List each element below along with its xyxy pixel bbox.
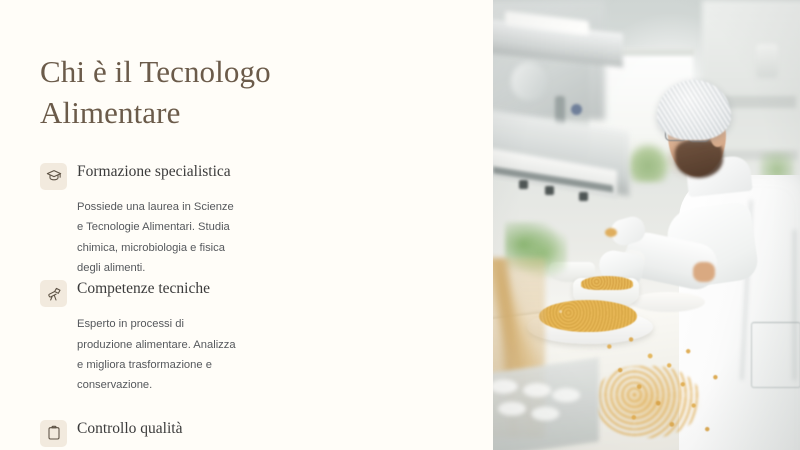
photo-panel [493,0,800,450]
lab-photo [493,0,800,450]
feature-head: Formazione specialistica [40,161,236,190]
feature-formazione-specialistica: Formazione specialistica Possiede una la… [40,161,236,279]
feature-title: Competenze tecniche [77,278,210,299]
feature-head: Competenze tecniche [40,278,236,307]
feature-body: Possiede una laurea in Scienze e Tecnolo… [40,197,236,279]
hairnet [657,80,731,140]
flat-plate [631,292,705,312]
grain-mound [539,300,637,332]
bowl-grains [581,276,633,290]
feature-title: Controllo qualità [77,418,182,439]
wrist-skin [693,262,715,282]
slide: Chi è il Tecnologo Alimentare Formazione… [0,0,800,450]
tray-items [493,374,589,436]
feature-competenze-tecniche: Competenze tecniche Esperto in processi … [40,278,236,396]
content-panel: Chi è il Tecnologo Alimentare Formazione… [0,0,493,450]
page-title: Chi è il Tecnologo Alimentare [40,52,370,134]
feature-title: Formazione specialistica [77,161,231,182]
feature-body: Esperto in processi di produzione alimen… [40,314,236,396]
feature-controllo-qualita: Controllo qualità Garantisce sicurezza e… [40,418,453,450]
graduation-cap-icon [40,163,67,190]
features-grid: Formazione specialistica Possiede una la… [40,161,453,450]
coat-pocket [751,322,800,388]
scattered-grains [593,330,729,448]
clipboard-icon [40,420,67,447]
telescope-icon [40,280,67,307]
grain-pinch [605,228,617,237]
feature-head: Controllo qualità [40,418,453,447]
